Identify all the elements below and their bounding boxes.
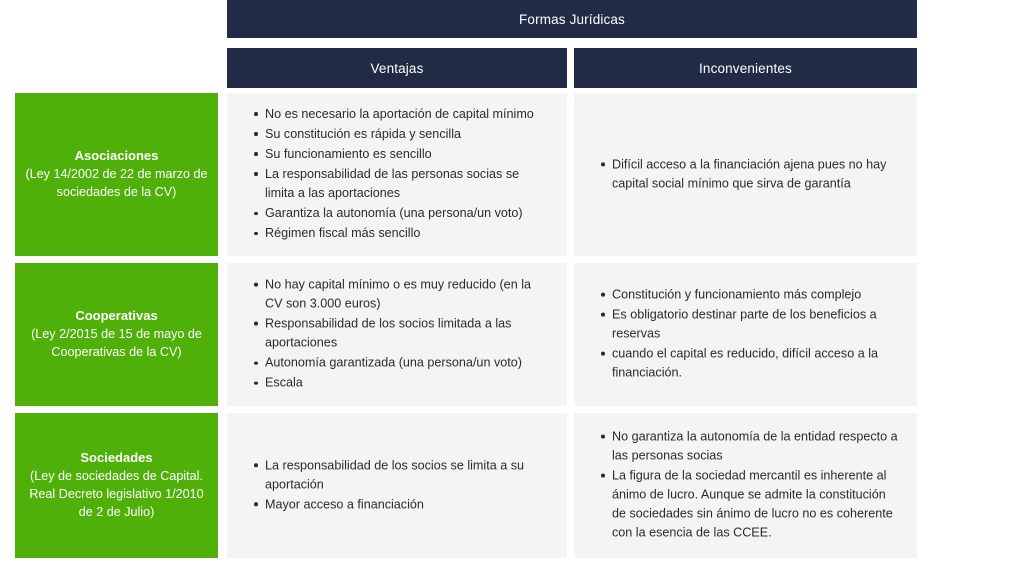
column-header-ventajas-label: Ventajas (371, 61, 424, 76)
row-advantages-cell: La responsabilidad de los socios se limi… (227, 413, 567, 558)
list-item: No hay capital mínimo o es muy reducido … (265, 275, 551, 313)
list-item: No garantiza la autonomía de la entidad … (612, 427, 901, 465)
list-item: No es necesario la aportación de capital… (265, 105, 551, 124)
list-item: Garantiza la autonomía (una persona/un v… (265, 204, 551, 223)
table-row: Cooperativas (Ley 2/2015 de 15 de mayo d… (0, 263, 1024, 406)
row-disadvantages-cell: Difícil acceso a la financiación ajena p… (574, 93, 917, 256)
disadvantages-list: Constitución y funcionamiento más comple… (592, 285, 901, 383)
list-item: Responsabilidad de los socios limitada a… (265, 314, 551, 352)
row-advantages-cell: No hay capital mínimo o es muy reducido … (227, 263, 567, 406)
list-item: La figura de la sociedad mercantil es in… (612, 466, 901, 543)
list-item: cuando el capital es reducido, difícil a… (612, 345, 901, 383)
disadvantages-list: No garantiza la autonomía de la entidad … (592, 427, 901, 543)
list-item: Su funcionamiento es sencillo (265, 145, 551, 164)
comparison-table: Formas Jurídicas Ventajas Inconvenientes… (0, 0, 1024, 576)
row-label-title: Sociedades (80, 449, 152, 468)
row-label-subtitle: (Ley de sociedades de Capital. Real Decr… (23, 468, 210, 522)
list-item: Escala (265, 374, 551, 393)
disadvantages-list: Difícil acceso a la financiación ajena p… (592, 155, 901, 193)
row-advantages-cell: No es necesario la aportación de capital… (227, 93, 567, 256)
list-item: Su constitución es rápida y sencilla (265, 125, 551, 144)
list-item: Difícil acceso a la financiación ajena p… (612, 155, 901, 193)
advantages-list: No es necesario la aportación de capital… (245, 105, 551, 244)
list-item: Mayor acceso a financiación (265, 495, 551, 514)
row-disadvantages-cell: No garantiza la autonomía de la entidad … (574, 413, 917, 558)
list-item: Es obligatorio destinar parte de los ben… (612, 305, 901, 343)
table-title: Formas Jurídicas (519, 12, 625, 27)
list-item: La responsabilidad de las personas socia… (265, 165, 551, 203)
row-label-asociaciones: Asociaciones (Ley 14/2002 de 22 de marzo… (15, 93, 218, 256)
advantages-list: No hay capital mínimo o es muy reducido … (245, 275, 551, 393)
row-label-subtitle: (Ley 14/2002 de 22 de marzo de sociedade… (23, 166, 210, 202)
row-label-sociedades: Sociedades (Ley de sociedades de Capital… (15, 413, 218, 558)
list-item: Autonomía garantizada (una persona/un vo… (265, 354, 551, 373)
table-title-bar: Formas Jurídicas (227, 0, 917, 38)
list-item: La responsabilidad de los socios se limi… (265, 456, 551, 494)
row-label-title: Cooperativas (75, 307, 157, 326)
column-header-inconvenientes-label: Inconvenientes (699, 61, 792, 76)
table-row: Sociedades (Ley de sociedades de Capital… (0, 413, 1024, 558)
column-header-ventajas: Ventajas (227, 48, 567, 88)
row-disadvantages-cell: Constitución y funcionamiento más comple… (574, 263, 917, 406)
list-item: Régimen fiscal más sencillo (265, 224, 551, 243)
advantages-list: La responsabilidad de los socios se limi… (245, 456, 551, 514)
column-header-inconvenientes: Inconvenientes (574, 48, 917, 88)
row-label-cooperativas: Cooperativas (Ley 2/2015 de 15 de mayo d… (15, 263, 218, 406)
row-label-title: Asociaciones (75, 147, 159, 166)
list-item: Constitución y funcionamiento más comple… (612, 285, 901, 304)
row-label-subtitle: (Ley 2/2015 de 15 de mayo de Cooperativa… (23, 326, 210, 362)
table-row: Asociaciones (Ley 14/2002 de 22 de marzo… (0, 93, 1024, 256)
